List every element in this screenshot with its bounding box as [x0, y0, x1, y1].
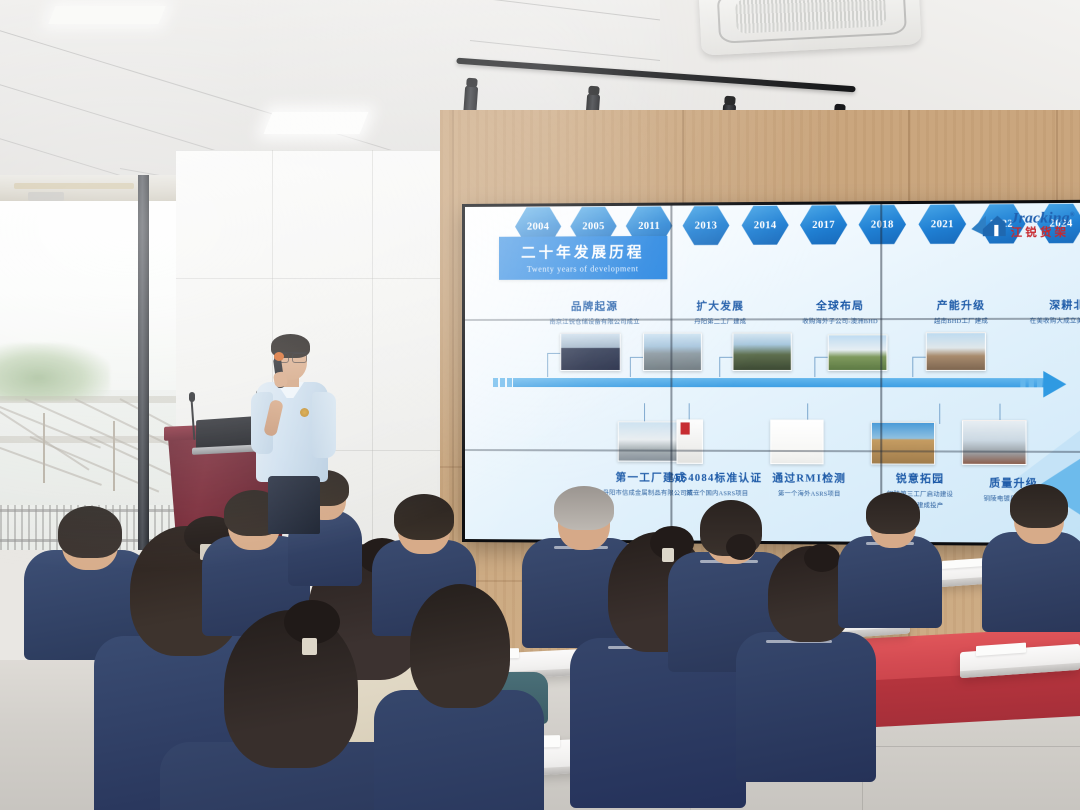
window-mullion	[138, 175, 149, 550]
lectern-microphone-head	[189, 392, 195, 402]
recessed-panel-light	[48, 6, 165, 24]
person-hair	[394, 494, 454, 540]
company-logo: Jracking® 江锐货架	[969, 211, 1075, 239]
timeline-axis	[493, 373, 1066, 391]
presenter	[248, 334, 338, 524]
recessed-panel-light	[264, 112, 369, 134]
person-hair	[410, 584, 510, 708]
person-hair	[866, 492, 920, 534]
milestone-photo-north-america-office	[926, 332, 986, 371]
window-wall	[0, 175, 176, 550]
video-wall-bezel	[670, 206, 672, 541]
milestone-top-label: 深耕北美 在美收购大成立美洲BHD公司	[974, 297, 1080, 325]
presenter-badge-pin	[300, 408, 309, 417]
slide-title-cn: 二十年发展历程	[521, 241, 644, 263]
milestone-photo-plating-plant	[962, 420, 1027, 465]
led-video-wall[interactable]: Jracking® 江锐货架 二十年发展历程 Twenty years of d…	[462, 200, 1080, 547]
person-hair	[554, 486, 614, 530]
logo-chinese-text: 江锐货架	[1011, 228, 1075, 240]
milestone-bottom-label: 通过RMI检测 第一个海外ASRS项目	[753, 470, 866, 498]
window-header-beam	[0, 175, 176, 201]
hair-clip-icon	[302, 638, 317, 655]
timeline-year-node[interactable]: 2014	[742, 205, 789, 246]
person-body	[374, 690, 544, 810]
person-body	[838, 536, 942, 628]
logo-registered-mark: ®	[1070, 212, 1075, 218]
logo-brand-text: Jracking	[1011, 210, 1070, 227]
person-body	[736, 632, 876, 782]
milestone-title: 深耕北美	[974, 297, 1080, 313]
milestone-photo-vietnam-factory	[828, 334, 888, 371]
milestone-title: 通过RMI检测	[753, 470, 866, 486]
presenter-right-arm	[312, 392, 336, 458]
milestone-photo-global-warehouse	[732, 332, 791, 371]
jracking-house-logo-icon	[969, 212, 1006, 239]
timeline-year-node[interactable]: 2013	[683, 205, 730, 246]
handout-paper	[976, 643, 1026, 656]
person-hair-bun	[804, 544, 840, 572]
handout-paper	[942, 558, 986, 569]
timeline-year-node[interactable]: 2021	[918, 204, 966, 245]
person-hair	[58, 506, 122, 558]
milestone-photo-rmi-report	[770, 420, 823, 465]
microphone-windscreen	[274, 352, 284, 361]
timeline-year-node[interactable]: 2018	[859, 204, 906, 245]
presentation-slide: Jracking® 江锐货架 二十年发展历程 Twenty years of d…	[465, 203, 1080, 543]
timeline-arrow-icon	[1043, 371, 1066, 398]
milestone-photo-as4084-certificate	[676, 419, 702, 463]
outdoor-canopy-structure	[0, 390, 176, 510]
conference-room-scene: Jracking® 江锐货架 二十年发展历程 Twenty years of d…	[0, 0, 1080, 810]
hair-clip-icon	[662, 548, 674, 562]
milestone-photo-first-factory	[618, 421, 679, 461]
person-hair-bun	[726, 534, 756, 560]
milestone-subtitle: 第一个海外ASRS项目	[753, 488, 866, 498]
slide-title-en: Twenty years of development	[521, 264, 644, 274]
window-vent-box	[28, 192, 64, 201]
person-body	[982, 532, 1080, 632]
video-wall-bezel	[880, 204, 882, 542]
presenter-trousers	[268, 476, 320, 534]
milestone-photo-founding-team	[560, 333, 621, 371]
slide-title-badge: 二十年发展历程 Twenty years of development	[499, 236, 667, 280]
milestone-photo-second-factory	[643, 333, 702, 371]
person-hair	[1010, 484, 1068, 528]
timeline-year-node[interactable]: 2017	[800, 204, 847, 245]
